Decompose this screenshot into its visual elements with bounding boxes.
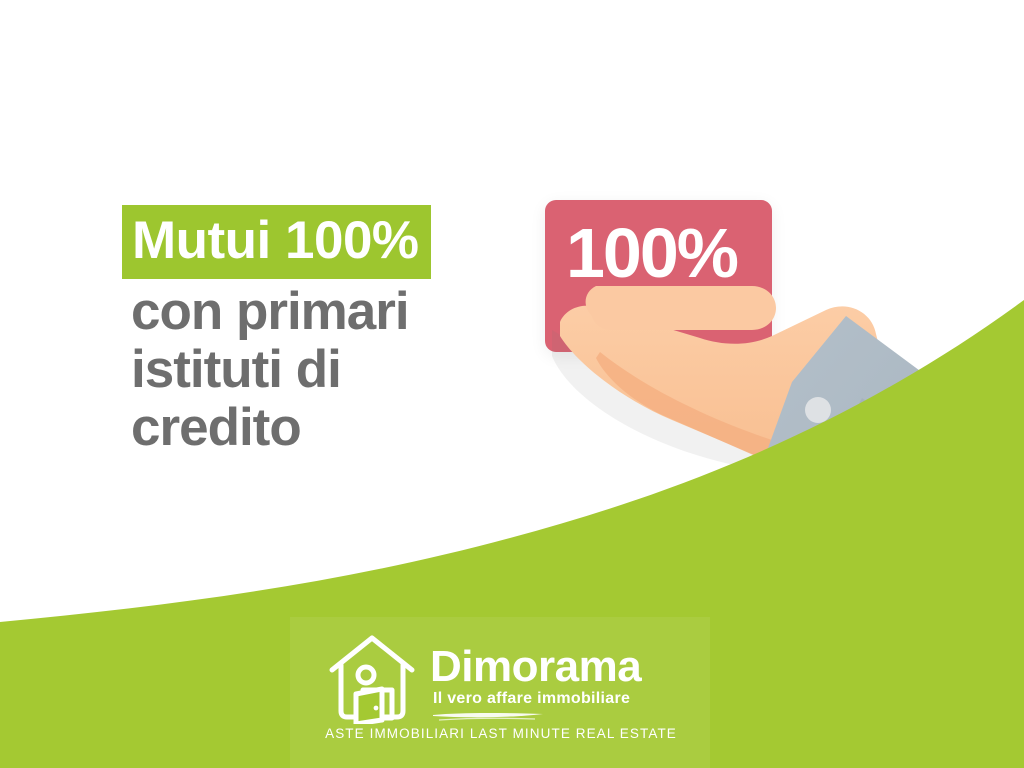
brand-services-line: ASTE IMMOBILIARI LAST MINUTE REAL ESTATE <box>321 727 681 741</box>
house-with-door-icon <box>326 632 418 724</box>
headline-line-3: credito <box>122 399 552 457</box>
brand-tagline: Il vero affare immobiliare <box>433 691 630 707</box>
headline-block: Mutui 100% con primari istituti di credi… <box>122 205 552 456</box>
headline-highlight: Mutui 100% <box>122 205 431 279</box>
brand-name: Dimorama <box>430 645 641 689</box>
promo-banner: 100% <box>0 0 1024 768</box>
brand-logo-lockup: Dimorama Il vero affare immobiliare ASTE… <box>290 617 710 768</box>
headline-line-2: istituti di <box>122 341 552 399</box>
headline-line-1: con primari <box>122 283 552 341</box>
brand-underline-stroke <box>431 711 545 723</box>
